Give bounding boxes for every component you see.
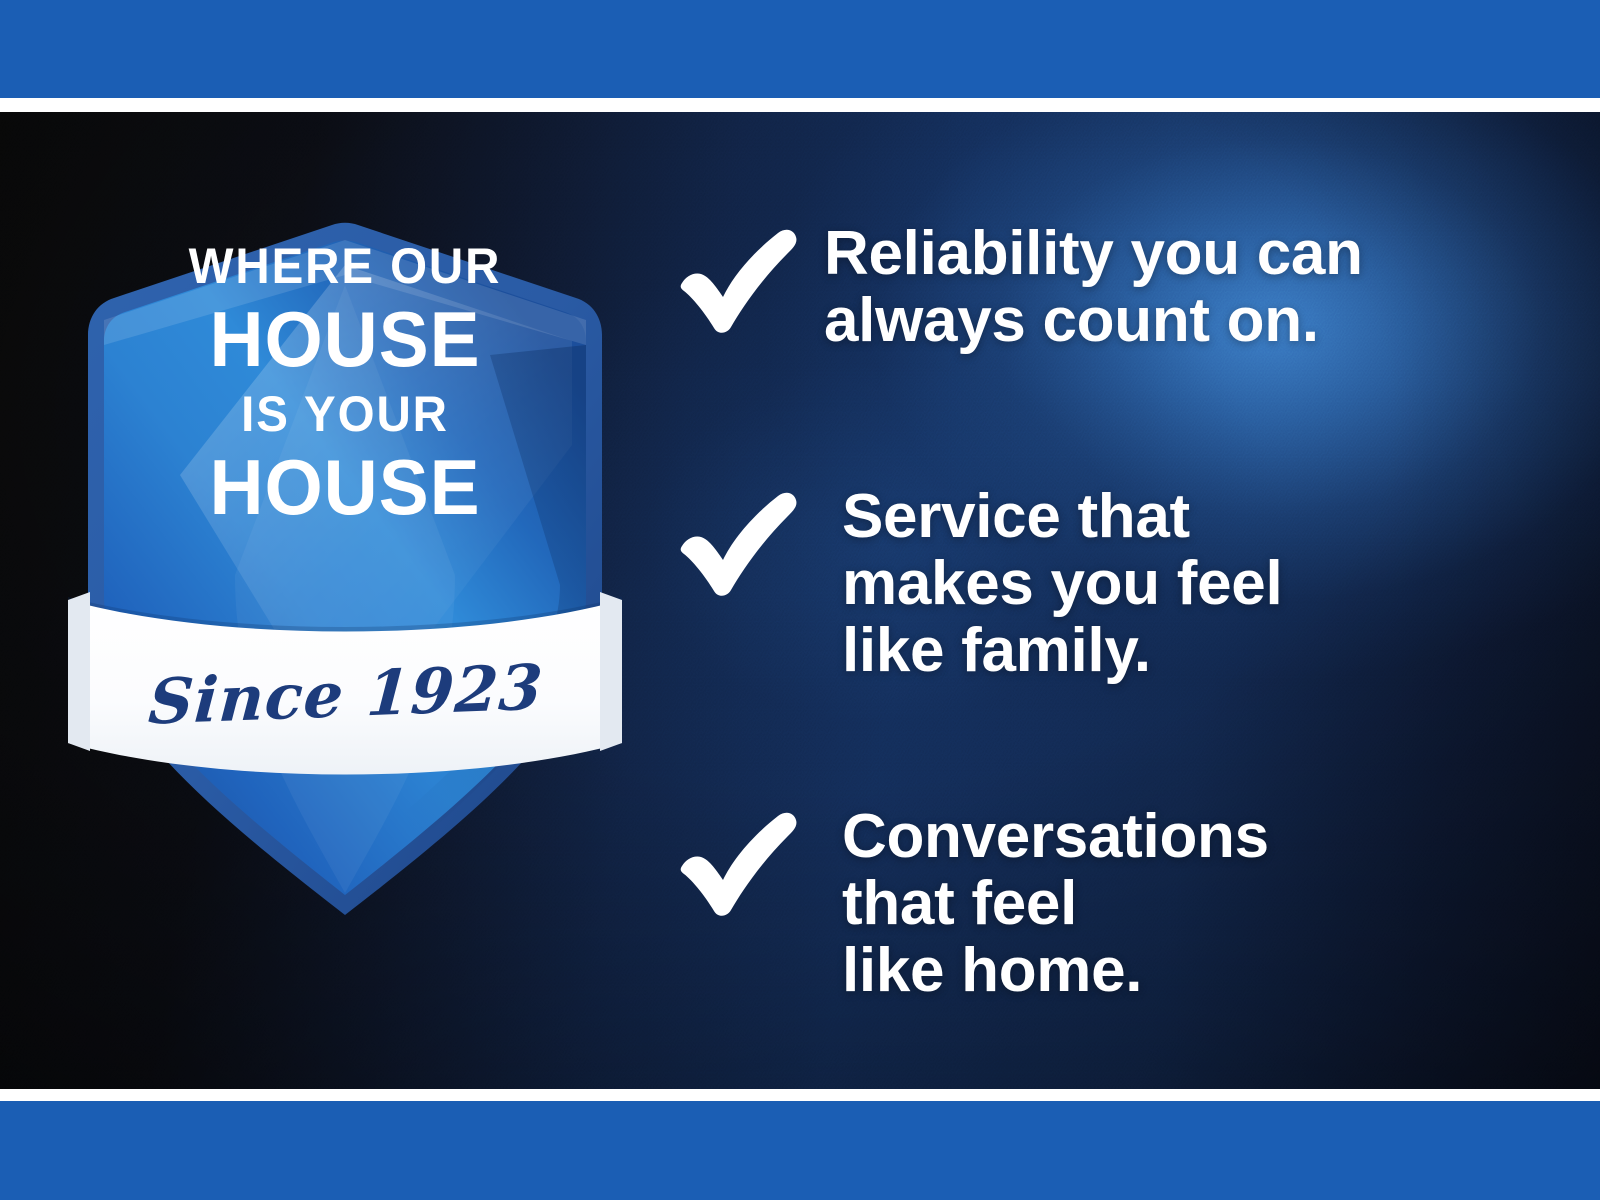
benefit-item-conversations: Conversations that feel like home. xyxy=(660,800,1269,1005)
bottom-brand-bar xyxy=(0,1101,1600,1200)
checkmark-icon xyxy=(660,480,810,600)
benefit-text-conversations: Conversations that feel like home. xyxy=(842,800,1269,1005)
benefits-list: Reliability you can always count on. Ser… xyxy=(660,112,1540,1089)
top-white-divider xyxy=(0,98,1600,112)
benefit-text-reliability: Reliability you can always count on. xyxy=(824,217,1363,355)
benefit-item-reliability: Reliability you can always count on. xyxy=(660,217,1363,355)
ribbon-fold-right xyxy=(600,592,622,751)
benefit-item-service: Service that makes you feel like family. xyxy=(660,480,1282,685)
ribbon-fold-left xyxy=(68,592,90,751)
checkmark-icon xyxy=(660,217,810,337)
checkmark-icon xyxy=(660,800,810,920)
benefit-text-service: Service that makes you feel like family. xyxy=(842,480,1282,685)
promo-poster: WHERE OUR HOUSE IS YOUR HOUSE Since 1923… xyxy=(0,0,1600,1200)
bottom-white-divider xyxy=(0,1089,1600,1101)
top-brand-bar xyxy=(0,0,1600,98)
brand-badge: WHERE OUR HOUSE IS YOUR HOUSE Since 1923 xyxy=(60,145,630,825)
